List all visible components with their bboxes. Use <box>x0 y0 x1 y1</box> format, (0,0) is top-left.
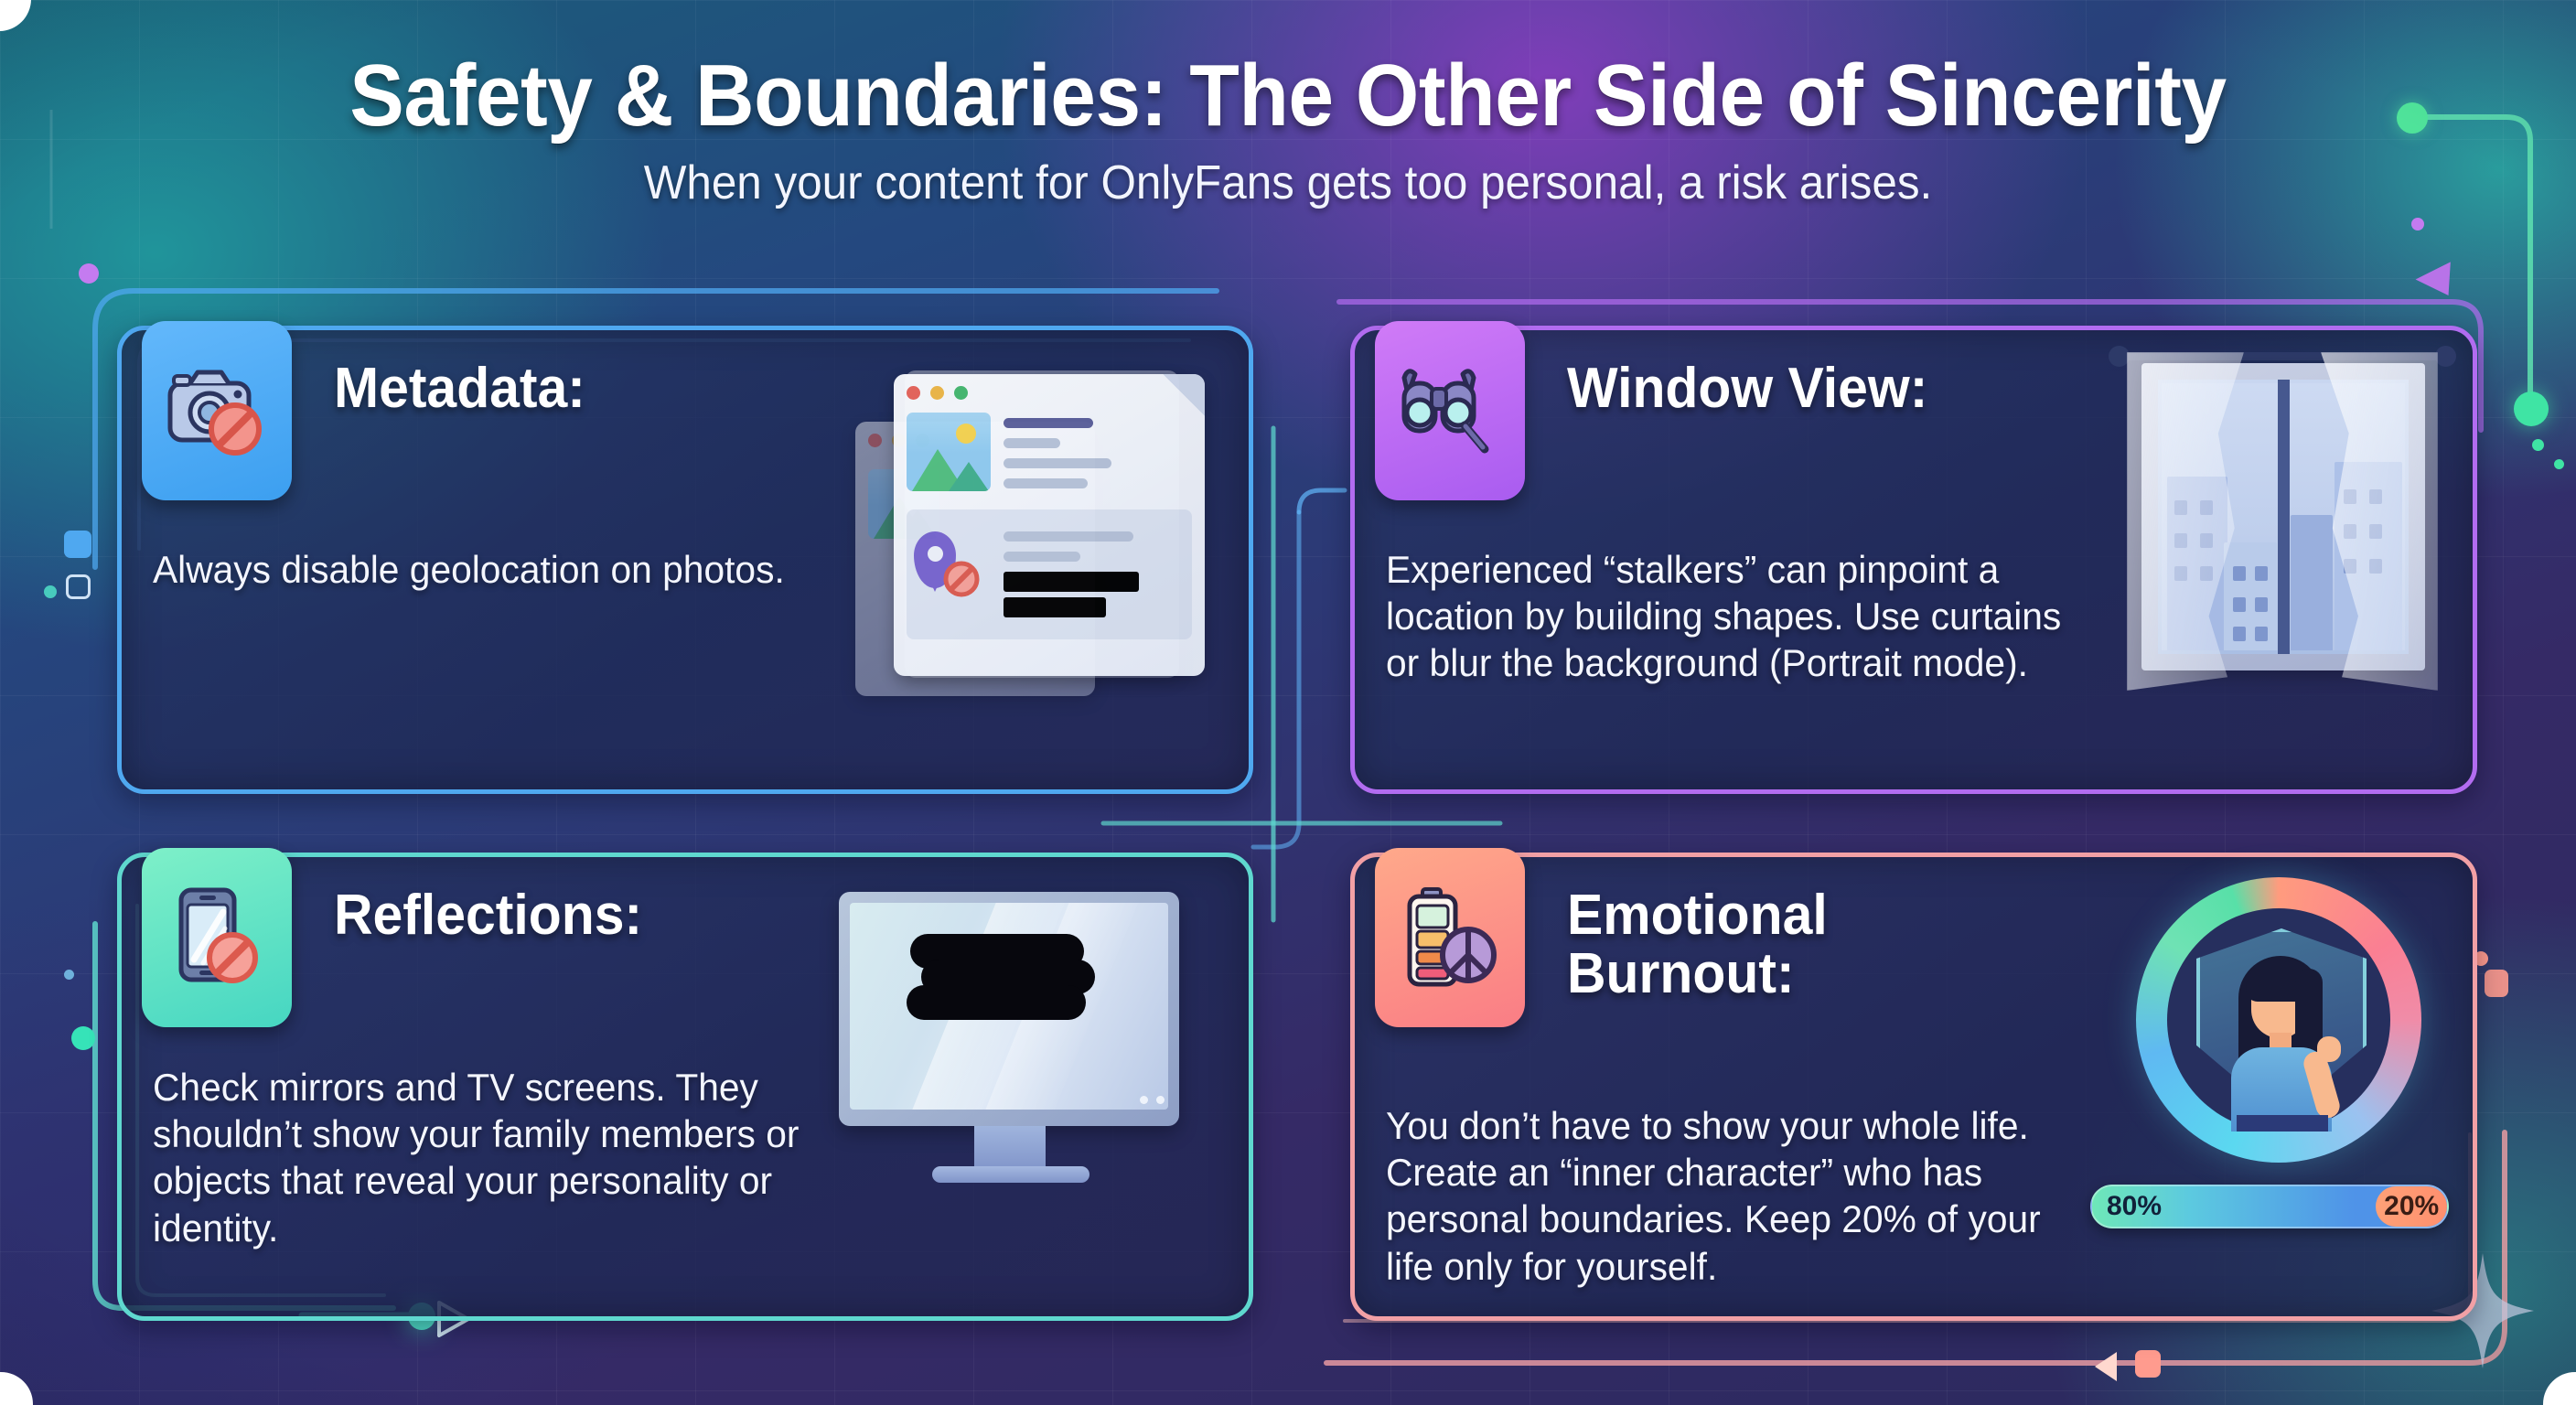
window-with-curtains-illustration <box>2127 338 2438 703</box>
window-mullion <box>2278 380 2290 654</box>
progress-bar-private-label: 20% <box>2376 1186 2447 1227</box>
doc-text-line <box>1004 552 1080 562</box>
person-avatar <box>2215 949 2352 1132</box>
monitor-indicator-dots <box>1140 1096 1165 1104</box>
card-reflections[interactable]: Reflections: Check mirrors and TV screen… <box>117 853 1253 1321</box>
progress-ring <box>2136 877 2421 1163</box>
doc-traffic-dots <box>907 386 968 400</box>
geolocation-pin-icon <box>914 531 985 597</box>
infographic-canvas: Safety & Boundaries: The Other Side of S… <box>0 0 2576 1405</box>
left-triangle-icon <box>2095 1352 2117 1381</box>
cards-grid: Metadata: Always disable geolocation on … <box>0 322 2576 1346</box>
card-emotional-burnout[interactable]: Emotional Burnout: You don’t have to sho… <box>1350 853 2477 1321</box>
doc-redaction-bar <box>1004 597 1106 617</box>
doc-main-sheet <box>894 374 1205 676</box>
doc-text-line <box>1004 418 1093 428</box>
phone-no-reflection-icon <box>142 848 292 1027</box>
life-share-progress-bar: 80% 20% <box>2090 1185 2449 1228</box>
building-shape <box>2224 542 2277 650</box>
window-pane-right <box>2287 383 2405 650</box>
doc-corner-fold-icon <box>1163 374 1205 416</box>
page-header: Safety & Boundaries: The Other Side of S… <box>0 0 2576 210</box>
card-reflections-body: Check mirrors and TV screens. They shoul… <box>153 1064 827 1251</box>
decor-dot-violet <box>79 263 99 284</box>
card-reflections-title: Reflections: <box>334 886 642 945</box>
curtain-right <box>2321 352 2438 691</box>
photo-metadata-document-illustration <box>850 347 1216 722</box>
doc-back-sheet-1 <box>855 422 1095 696</box>
corner-mask-bottom-right <box>2543 1372 2576 1405</box>
window-frame <box>2141 363 2425 670</box>
doc-redaction-bar <box>1004 572 1139 592</box>
window-glass <box>2158 380 2409 654</box>
card-window-view-body: Experienced “stalkers” can pinpoint a lo… <box>1386 546 2087 687</box>
card-emotional-burnout-head: Emotional Burnout: <box>1375 848 2043 1027</box>
monitor-stand-neck <box>974 1126 1046 1172</box>
monitor-screen <box>850 903 1168 1110</box>
card-window-view-title: Window View: <box>1567 359 1927 418</box>
window-pane-left <box>2162 383 2280 650</box>
black-redaction-scribble <box>905 934 1099 1033</box>
card-window-view[interactable]: Window View: Experienced “stalkers” can … <box>1350 326 2477 794</box>
decor-square-salmon <box>2135 1350 2161 1378</box>
card-emotional-burnout-body: You don’t have to show your whole life. … <box>1386 1102 2087 1290</box>
doc-photo-thumbnail-icon <box>907 413 991 491</box>
monitor-stand-base <box>932 1166 1089 1183</box>
binoculars-magnifier-icon <box>1375 321 1525 500</box>
doc-back-sheet-2 <box>905 370 1179 678</box>
doc-traffic-dots-back <box>868 434 929 447</box>
no-geolocation-badge-icon <box>941 559 982 599</box>
card-reflections-head: Reflections: <box>142 848 659 1027</box>
card-metadata-title: Metadata: <box>334 359 585 418</box>
card-window-view-head: Window View: <box>1375 321 1947 500</box>
monitor-bezel <box>839 892 1179 1126</box>
monitor-with-redaction-illustration <box>839 892 1205 1249</box>
decor-triangle-violet <box>2416 252 2463 295</box>
doc-text-line <box>1004 531 1133 542</box>
card-emotional-burnout-title: Emotional Burnout: <box>1567 886 2019 1004</box>
camera-no-geolocation-icon <box>142 321 292 500</box>
building-shape <box>2167 477 2227 650</box>
page-title: Safety & Boundaries: The Other Side of S… <box>91 51 2486 141</box>
doc-metadata-section <box>907 509 1192 639</box>
curtain-left <box>2127 352 2244 691</box>
card-metadata-body: Always disable geolocation on photos. <box>153 546 827 593</box>
building-shape <box>2334 462 2402 650</box>
shielded-person-ring-illustration: 80% 20% <box>2127 877 2449 1252</box>
progress-bar-public-label: 80% <box>2092 1191 2376 1222</box>
battery-peace-icon <box>1375 848 1525 1027</box>
corner-mask-bottom-left <box>0 1372 33 1405</box>
doc-text-line <box>1004 478 1088 488</box>
curtain-rod <box>2118 352 2447 360</box>
card-metadata-head: Metadata: <box>142 321 598 500</box>
building-shape <box>2291 515 2333 650</box>
doc-text-line <box>1004 438 1060 448</box>
decor-dot-violet-small <box>2411 218 2424 231</box>
shield-icon <box>2196 928 2367 1117</box>
page-subtitle: When your content for OnlyFans gets too … <box>64 156 2511 210</box>
doc-thumbnail-back <box>868 469 939 539</box>
card-metadata[interactable]: Metadata: Always disable geolocation on … <box>117 326 1253 794</box>
doc-text-line <box>1004 458 1111 468</box>
